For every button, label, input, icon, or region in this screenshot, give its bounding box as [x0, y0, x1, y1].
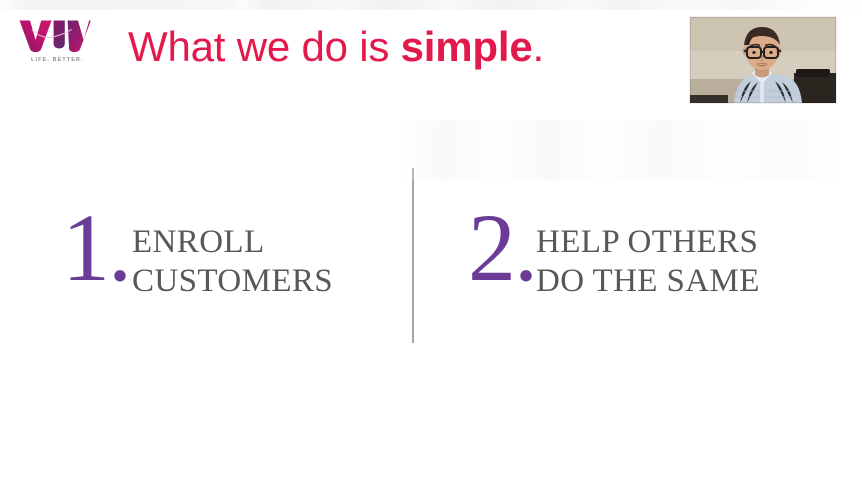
page-title-suffix: .: [533, 23, 544, 70]
presenter-video-feed[interactable]: [690, 17, 836, 103]
page-title-prefix: What we do is: [128, 23, 401, 70]
brand-tagline: LIFE. BETTER.: [31, 57, 104, 63]
vertical-divider: [412, 168, 414, 343]
brand-logo: LIFE. BETTER.: [18, 18, 104, 63]
screen-lower-artifact-band: [400, 120, 840, 180]
step-number-1: 1.: [62, 205, 130, 291]
step-label-2: HELP OTHERS DO THE SAME: [536, 205, 760, 301]
presentation-slide: LIFE. BETTER. What we do is simple.: [0, 0, 862, 485]
step-number-2: 2.: [468, 205, 536, 291]
step-label-1: ENROLL CUSTOMERS: [132, 205, 333, 301]
step-label-1-line-1: ENROLL: [132, 223, 333, 262]
step-label-2-line-1: HELP OTHERS: [536, 223, 760, 262]
step-label-1-line-2: CUSTOMERS: [132, 262, 333, 301]
step-item-2: 2. HELP OTHERS DO THE SAME: [468, 205, 760, 301]
viv-wordmark-icon: [18, 18, 92, 52]
page-title: What we do is simple.: [128, 20, 544, 74]
screen-top-artifact-band: [0, 0, 862, 10]
presenter-video-frame: [690, 17, 836, 103]
step-item-1: 1. ENROLL CUSTOMERS: [62, 205, 333, 301]
page-title-emphasis: simple: [401, 23, 533, 70]
step-label-2-line-2: DO THE SAME: [536, 262, 760, 301]
